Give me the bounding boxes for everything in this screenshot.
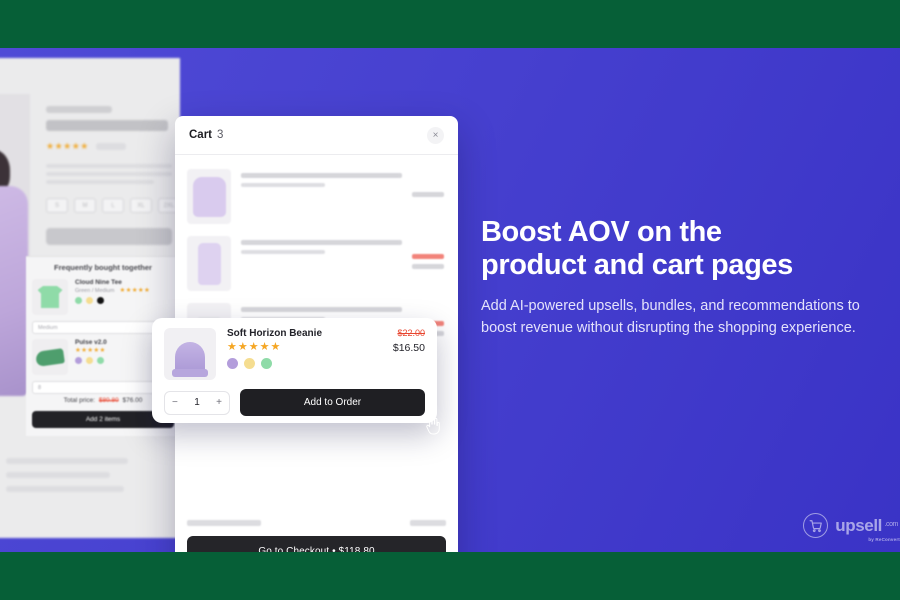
bundle-item-name: Cloud Nine Tee <box>75 279 150 286</box>
swatch-yellow[interactable] <box>244 358 255 369</box>
bundle-variant-value: Medium <box>38 325 58 331</box>
product-rating-stars: ★★★★★ <box>46 142 89 151</box>
cart-header: Cart 3 × <box>175 116 458 155</box>
cart-item-count: 3 <box>217 129 223 141</box>
beanie-icon <box>175 342 205 373</box>
quantity-value: 1 <box>194 397 200 408</box>
size-option[interactable]: S <box>46 198 68 213</box>
brand-logo: upsell .com by ReConvert <box>803 513 882 538</box>
quantity-decrease-button[interactable]: − <box>172 397 178 408</box>
model-hoodie <box>0 186 28 396</box>
cart-item-thumb <box>187 236 231 291</box>
bundle-item-stars: ★★★★★ <box>119 286 150 294</box>
tee-icon <box>38 286 63 308</box>
cart-item[interactable] <box>175 230 458 297</box>
bundle-item-thumb <box>32 279 68 315</box>
product-brand-skeleton <box>46 106 112 113</box>
brand-domain: .com <box>884 521 898 528</box>
quantity-stepper[interactable]: − 1 + <box>164 391 230 415</box>
bundle-item-stars: ★★★★★ <box>75 346 107 354</box>
shoe-icon <box>35 348 65 367</box>
size-option[interactable]: L <box>102 198 124 213</box>
bundle-item[interactable]: Pulse v2.0 ★★★★★ <box>32 339 107 375</box>
footer-skeleton-3 <box>6 486 124 492</box>
brand-tagline: by ReConvert <box>868 537 900 542</box>
cart-subtotal-skeleton <box>187 520 446 526</box>
swatch-black[interactable] <box>97 297 104 304</box>
upsell-price: $16.50 <box>393 342 425 354</box>
subtotal-value-skeleton <box>410 520 446 526</box>
upsell-popup: Soft Horizon Beanie ★★★★★ $22.00 $16.50 … <box>152 318 437 423</box>
close-icon[interactable]: × <box>427 127 444 144</box>
swatch-green[interactable] <box>97 357 104 364</box>
subtotal-label-skeleton <box>187 520 261 526</box>
swatch-yellow[interactable] <box>86 357 93 364</box>
product-title-skeleton <box>46 120 168 131</box>
bundle-variant-value: 8 <box>38 385 41 391</box>
cart-item-compare-price-skeleton <box>412 254 444 259</box>
swatch-purple[interactable] <box>75 357 82 364</box>
bundle-item-meta: Green / Medium <box>75 288 114 294</box>
slide-frame: ★★★★★ S M L XL 2XL Frequently bought tog… <box>0 0 900 600</box>
bundle-item[interactable]: Cloud Nine Tee Green / Medium ★★★★★ <box>32 279 150 315</box>
product-rating-count-skeleton <box>96 143 126 150</box>
brand-name-text: upsell <box>835 516 882 535</box>
cart-item-text <box>241 236 402 254</box>
upsell-compare-price: $22.00 <box>393 328 425 338</box>
cart-item-price-skeleton <box>412 264 444 269</box>
cart-item-variant-skeleton <box>241 183 325 187</box>
swatch-green[interactable] <box>261 358 272 369</box>
cart-item-variant-skeleton <box>241 250 325 254</box>
cart-item-price <box>412 169 444 197</box>
checkout-button[interactable]: Go to Checkout • $118.80 <box>187 536 446 552</box>
size-option[interactable]: XL <box>130 198 152 213</box>
upsell-actions: − 1 + Add to Order <box>164 389 425 416</box>
upsell-product-row: Soft Horizon Beanie ★★★★★ $22.00 $16.50 <box>164 328 425 380</box>
footer-skeleton-1 <box>6 458 128 464</box>
bundle-title: Frequently bought together <box>26 263 180 272</box>
footer-skeleton-2 <box>6 472 110 478</box>
bundle-total-new: $76.00 <box>123 397 143 404</box>
bundle-total-label: Total price: <box>64 397 95 404</box>
promo-slide: ★★★★★ S M L XL 2XL Frequently bought tog… <box>0 48 900 552</box>
bundle-item-thumb <box>32 339 68 375</box>
marketing-subcopy: Add AI-powered upsells, bundles, and rec… <box>481 296 871 340</box>
cart-item-title-skeleton <box>241 307 402 312</box>
upsell-product-swatches[interactable] <box>227 358 378 369</box>
upsell-product-stars: ★★★★★ <box>227 342 378 353</box>
cart-item-thumb <box>187 169 231 224</box>
brand-name: upsell .com by ReConvert <box>835 516 882 536</box>
upsell-product-name: Soft Horizon Beanie <box>227 328 378 339</box>
headline-line-1: Boost AOV on the <box>481 216 871 249</box>
cart-item-text <box>241 169 402 187</box>
marketing-copy: Boost AOV on the product and cart pages … <box>481 216 871 340</box>
size-option[interactable]: M <box>74 198 96 213</box>
add-to-cart-skeleton[interactable] <box>46 228 172 245</box>
cart-item-title-skeleton <box>241 173 402 178</box>
quantity-increase-button[interactable]: + <box>216 397 222 408</box>
headline-line-2: product and cart pages <box>481 249 871 282</box>
pointer-hand-icon <box>424 416 441 435</box>
size-selector[interactable]: S M L XL 2XL <box>46 198 180 213</box>
shopping-cart-icon <box>803 513 828 538</box>
bundle-item-swatches[interactable] <box>75 297 150 304</box>
swatch-yellow[interactable] <box>86 297 93 304</box>
page-title: Boost AOV on the product and cart pages <box>481 216 871 282</box>
bundle-item-name: Pulse v2.0 <box>75 339 107 346</box>
cart-item-price-skeleton <box>412 192 444 197</box>
sweatpants-icon <box>198 243 221 285</box>
bundle-total-old: $80.80 <box>99 397 119 404</box>
bundle-item-swatches[interactable] <box>75 357 107 364</box>
cart-item[interactable] <box>175 163 458 230</box>
product-desc-line-3 <box>46 180 154 184</box>
upsell-product-thumb <box>164 328 216 380</box>
add-to-order-button[interactable]: Add to Order <box>240 389 425 416</box>
cart-title: Cart <box>189 129 212 141</box>
product-desc-line-2 <box>46 172 172 176</box>
swatch-green[interactable] <box>75 297 82 304</box>
cart-item-price <box>412 236 444 269</box>
upsell-product-info: Soft Horizon Beanie ★★★★★ <box>227 328 378 380</box>
upsell-price-block: $22.00 $16.50 <box>389 328 425 380</box>
cart-footer: Go to Checkout • $118.80 <box>175 510 458 552</box>
swatch-purple[interactable] <box>227 358 238 369</box>
cart-item-title-skeleton <box>241 240 402 245</box>
product-desc-line-1 <box>46 164 172 168</box>
hoodie-icon <box>193 177 226 217</box>
